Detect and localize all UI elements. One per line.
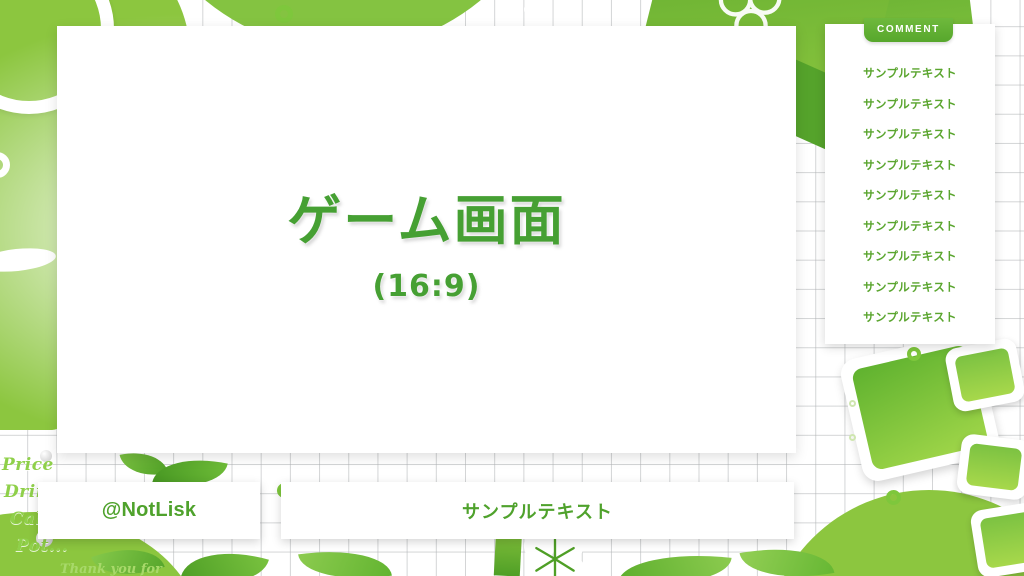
message-label: サンプルテキスト <box>462 498 613 524</box>
message-bar[interactable]: サンプルテキスト <box>281 482 794 539</box>
comment-item: サンプルテキスト <box>825 302 995 333</box>
streamer-name-bar[interactable]: @NotLisk <box>38 482 260 539</box>
comment-item: サンプルテキスト <box>825 58 995 89</box>
streamer-name-label: @NotLisk <box>102 499 196 522</box>
decor-photo-frame-c <box>969 499 1024 576</box>
comment-list[interactable]: サンプルテキスト サンプルテキスト サンプルテキスト サンプルテキスト サンプル… <box>825 58 995 333</box>
comment-item: サンプルテキスト <box>825 272 995 303</box>
decor-ring-1 <box>275 5 293 23</box>
decor-script-line-1: Price <box>2 452 68 479</box>
decor-photo-frame-a <box>944 337 1024 414</box>
game-screen-aspect-ratio: (16:9) <box>372 269 480 304</box>
game-screen-title: ゲーム画面 <box>287 176 565 255</box>
comment-item: サンプルテキスト <box>825 211 995 242</box>
comment-item: サンプルテキスト <box>825 150 995 181</box>
comment-panel-badge: COMMENT <box>864 18 953 42</box>
game-screen-panel[interactable]: ゲーム画面 (16:9) <box>57 26 796 453</box>
decor-bottom-script: Thank you for <box>60 562 162 576</box>
comment-item: サンプルテキスト <box>825 241 995 272</box>
game-screen-content: ゲーム画面 (16:9) <box>57 26 796 453</box>
decor-ring-3 <box>907 347 921 361</box>
decor-photo-frame-b <box>956 433 1024 501</box>
decor-ring-7 <box>849 434 856 441</box>
decor-ring-4 <box>886 490 901 505</box>
comment-item: サンプルテキスト <box>825 119 995 150</box>
screen-root: Price Drink Cake Pot... Thank you for ゲー… <box>0 0 1024 576</box>
comment-item: サンプルテキスト <box>825 89 995 120</box>
comment-item: サンプルテキスト <box>825 180 995 211</box>
decor-ring-2 <box>524 1 541 18</box>
decor-ring-6 <box>849 400 856 407</box>
